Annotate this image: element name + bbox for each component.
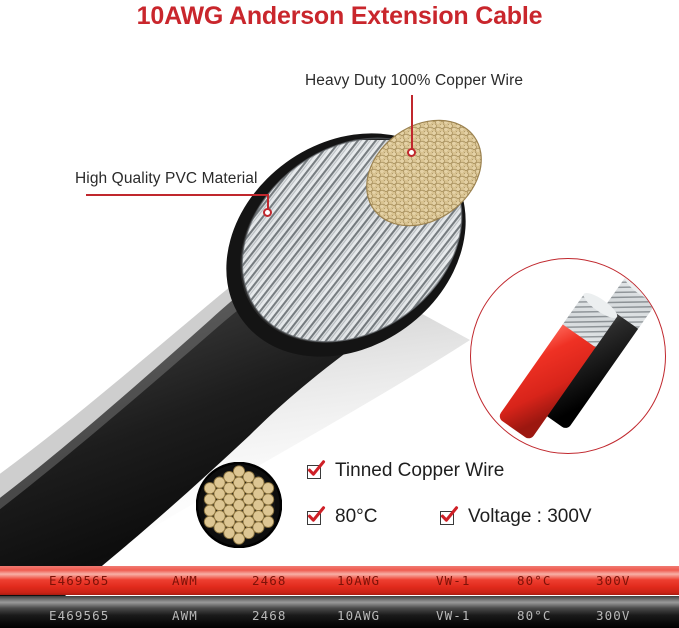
print-token: 10AWG [337,608,380,623]
feature-temperature-rating: 80°C [307,506,377,528]
check-icon [440,509,457,526]
print-token: 10AWG [337,573,380,588]
print-token: VW-1 [436,608,471,623]
print-token: 300V [596,608,631,623]
print-token: 2468 [252,608,287,623]
check-icon [307,509,324,526]
print-token: E469565 [49,608,109,623]
leader-line-copper [411,95,413,150]
feature-voltage-rating: Voltage : 300V [440,506,592,528]
tinned-wire-ends-inset-icon [471,259,665,453]
feature-label: Tinned Copper Wire [335,460,504,482]
print-token: 80°C [517,608,552,623]
print-token: 300V [596,573,631,588]
red-cable-print-row: E469565 AWM 2468 10AWG VW-1 80°C 300V [0,566,679,595]
print-token: 2468 [252,573,287,588]
black-cable-strip: E469565 AWM 2468 10AWG VW-1 80°C 300V [0,596,679,628]
leader-marker-pvc [263,208,272,217]
feature-label: 80°C [335,506,377,528]
inset-circle-tinned-ends [470,258,666,454]
check-icon [307,463,324,480]
infographic-canvas: 10AWG Anderson Extension Cable [0,0,679,628]
print-token: AWM [172,608,198,623]
cable-cross-section-icon [196,462,282,548]
print-token: E469565 [49,573,109,588]
print-token: AWM [172,573,198,588]
page-title: 10AWG Anderson Extension Cable [0,2,679,31]
leader-marker-copper [407,148,416,157]
black-cable-print-row: E469565 AWM 2468 10AWG VW-1 80°C 300V [0,596,679,628]
print-token: VW-1 [436,573,471,588]
callout-label-copper-wire: Heavy Duty 100% Copper Wire [305,72,523,90]
feature-label: Voltage : 300V [468,506,592,528]
feature-tinned-copper-wire: Tinned Copper Wire [307,460,504,482]
callout-label-pvc-material: High Quality PVC Material [75,170,258,188]
red-cable-strip: E469565 AWM 2468 10AWG VW-1 80°C 300V [0,566,679,595]
print-token: 80°C [517,573,552,588]
leader-line-pvc-horizontal [86,194,269,196]
